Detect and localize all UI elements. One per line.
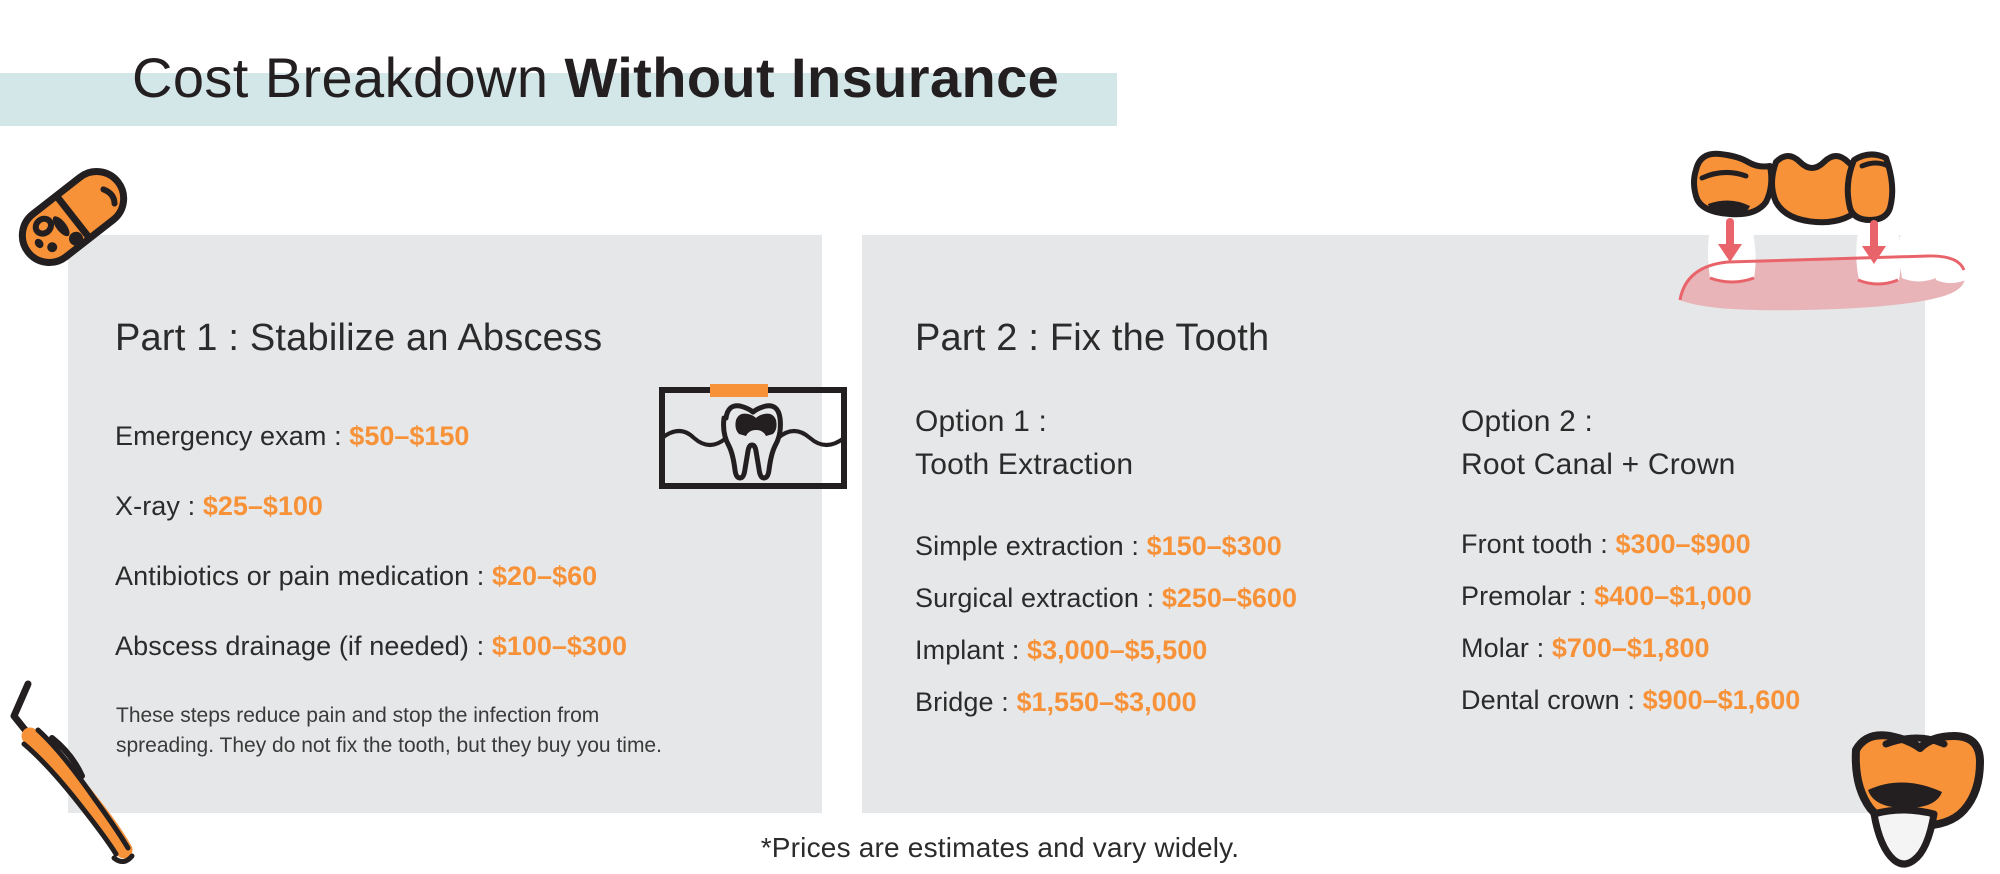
cost-label: Antibiotics or pain medication : bbox=[115, 561, 492, 591]
cost-label: Implant : bbox=[915, 635, 1027, 665]
page-title-light: Cost Breakdown bbox=[132, 46, 564, 109]
cost-price: $100–$300 bbox=[492, 631, 627, 661]
cost-price: $50–$150 bbox=[349, 421, 469, 451]
cost-price: $150–$300 bbox=[1147, 531, 1282, 561]
cost-row-antibiotics: Antibiotics or pain medication : $20–$60 bbox=[115, 559, 597, 593]
cost-row-implant: Implant : $3,000–$5,500 bbox=[915, 633, 1207, 667]
cost-label: Surgical extraction : bbox=[915, 583, 1162, 613]
cost-label: Simple extraction : bbox=[915, 531, 1147, 561]
cost-row-abscess-drainage: Abscess drainage (if needed) : $100–$300 bbox=[115, 629, 627, 663]
cost-price: $25–$100 bbox=[203, 491, 323, 521]
option1-heading: Option 1 : Tooth Extraction bbox=[915, 400, 1133, 486]
page-title: Cost Breakdown Without Insurance bbox=[132, 47, 1059, 109]
dental-scaler-icon bbox=[0, 672, 146, 872]
page-title-bold: Without Insurance bbox=[564, 46, 1059, 109]
cost-price: $300–$900 bbox=[1615, 529, 1750, 559]
option1-heading-line1: Option 1 : bbox=[915, 400, 1133, 443]
option2-heading: Option 2 : Root Canal + Crown bbox=[1461, 400, 1736, 486]
cost-row-xray: X-ray : $25–$100 bbox=[115, 489, 323, 523]
dental-crown-icon bbox=[1838, 718, 1998, 874]
cost-price: $3,000–$5,500 bbox=[1027, 635, 1207, 665]
cost-price: $250–$600 bbox=[1162, 583, 1297, 613]
cost-row-simple-extraction: Simple extraction : $150–$300 bbox=[915, 529, 1282, 563]
cost-price: $900–$1,600 bbox=[1643, 685, 1801, 715]
cost-label: Dental crown : bbox=[1461, 685, 1643, 715]
cost-row-emergency-exam: Emergency exam : $50–$150 bbox=[115, 419, 469, 453]
cost-row-premolar: Premolar : $400–$1,000 bbox=[1461, 579, 1752, 613]
cost-row-front-tooth: Front tooth : $300–$900 bbox=[1461, 527, 1751, 561]
pill-capsule-icon bbox=[8, 158, 138, 276]
cost-label: X-ray : bbox=[115, 491, 203, 521]
cost-row-molar: Molar : $700–$1,800 bbox=[1461, 631, 1710, 665]
cost-row-dental-crown: Dental crown : $900–$1,600 bbox=[1461, 683, 1800, 717]
part1-heading: Part 1 : Stabilize an Abscess bbox=[115, 316, 602, 360]
cost-price: $700–$1,800 bbox=[1552, 633, 1710, 663]
cost-label: Emergency exam : bbox=[115, 421, 349, 451]
cost-row-surgical-extraction: Surgical extraction : $250–$600 bbox=[915, 581, 1297, 615]
option2-heading-line1: Option 2 : bbox=[1461, 400, 1736, 443]
cost-label: Molar : bbox=[1461, 633, 1552, 663]
part2-heading: Part 2 : Fix the Tooth bbox=[915, 316, 1269, 360]
dental-bridge-icon bbox=[1672, 140, 2000, 320]
cost-label: Bridge : bbox=[915, 687, 1016, 717]
dental-xray-icon bbox=[658, 380, 848, 490]
option1-heading-line2: Tooth Extraction bbox=[915, 443, 1133, 486]
cost-label: Front tooth : bbox=[1461, 529, 1615, 559]
part1-note: These steps reduce pain and stop the inf… bbox=[116, 701, 676, 761]
footnote-disclaimer: *Prices are estimates and vary widely. bbox=[0, 831, 2000, 865]
cost-price: $20–$60 bbox=[492, 561, 597, 591]
cost-row-bridge: Bridge : $1,550–$3,000 bbox=[915, 685, 1197, 719]
cost-price: $1,550–$3,000 bbox=[1016, 687, 1196, 717]
option2-heading-line2: Root Canal + Crown bbox=[1461, 443, 1736, 486]
cost-label: Abscess drainage (if needed) : bbox=[115, 631, 492, 661]
cost-label: Premolar : bbox=[1461, 581, 1594, 611]
cost-price: $400–$1,000 bbox=[1594, 581, 1752, 611]
